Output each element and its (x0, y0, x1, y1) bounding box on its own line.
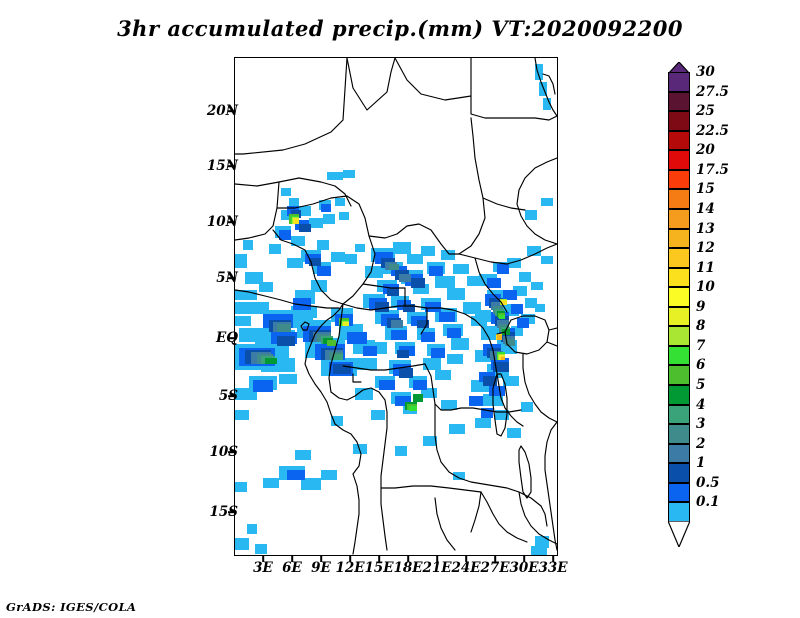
x-tick-label-18e: 18E (393, 560, 422, 576)
colorbar (668, 72, 690, 522)
x-tick-label-15e: 15E (364, 560, 393, 576)
colorbar-tick-label: 10 (696, 279, 715, 295)
colorbar-tick-label: 5 (696, 377, 705, 393)
x-tick-label-30e: 30E (509, 560, 538, 576)
colorbar-tick-label: 11 (696, 260, 715, 276)
colorbar-segment (668, 365, 690, 385)
y-tick-label-10n: 10N (207, 214, 238, 230)
y-tick-label-5s: 5S (219, 388, 238, 404)
colorbar-tick-label: 25 (696, 103, 715, 119)
colorbar-segment (668, 131, 690, 151)
colorbar-segment (668, 111, 690, 131)
colorbar-segment (668, 483, 690, 503)
colorbar-tick-label: 20 (696, 142, 715, 158)
colorbar-segment (668, 229, 690, 249)
colorbar-segment (668, 326, 690, 346)
colorbar-segment (668, 424, 690, 444)
footer-credit: GrADS: IGES/COLA (6, 600, 136, 614)
x-tick-label-33e: 33E (538, 560, 567, 576)
colorbar-tick-label: 13 (696, 221, 715, 237)
x-tick-label-12e: 12E (335, 560, 364, 576)
y-tick-label-10s: 10S (209, 444, 238, 460)
y-tick-label-eq: EQ (216, 330, 238, 346)
colorbar-segment (668, 92, 690, 112)
x-tick-label-6e: 6E (282, 560, 302, 576)
colorbar-tick-label: 7 (696, 338, 705, 354)
precip-map-plot (234, 57, 558, 556)
colorbar-segment (668, 287, 690, 307)
map-canvas (235, 58, 557, 555)
colorbar-segment (668, 463, 690, 483)
x-tick-label-24e: 24E (451, 560, 480, 576)
colorbar-tick-label: 27.5 (696, 84, 729, 100)
colorbar-tick-label: 17.5 (696, 162, 729, 178)
colorbar-tick-label: 3 (696, 416, 705, 432)
x-tick-label-9e: 9E (311, 560, 331, 576)
colorbar-tick-label: 15 (696, 181, 715, 197)
colorbar-segment (668, 170, 690, 190)
colorbar-tick-label: 14 (696, 201, 715, 217)
colorbar-segment (668, 502, 690, 522)
page-title: 3hr accumulated precip.(mm) VT:202009220… (0, 16, 800, 41)
colorbar-segment (668, 385, 690, 405)
colorbar-segment (668, 444, 690, 464)
colorbar-segment (668, 209, 690, 229)
x-tick-label-27e: 27E (480, 560, 509, 576)
colorbar-tick-label: 0.1 (696, 494, 720, 510)
colorbar-segment (668, 248, 690, 268)
y-tick-label-5n: 5N (216, 270, 238, 286)
y-tick-label-15s: 15S (209, 504, 238, 520)
colorbar-segment (668, 150, 690, 170)
colorbar-tick-label: 4 (696, 397, 705, 413)
colorbar-tick-label: 9 (696, 299, 705, 315)
colorbar-under-arrow (668, 521, 690, 547)
colorbar-segment (668, 268, 690, 288)
colorbar-segment (668, 346, 690, 366)
colorbar-tick-label: 12 (696, 240, 715, 256)
colorbar-tick-label: 22.5 (696, 123, 729, 139)
colorbar-segment (668, 307, 690, 327)
colorbar-tick-label: 0.5 (696, 475, 720, 491)
colorbar-tick-label: 30 (696, 64, 715, 80)
y-tick-label-15n: 15N (207, 158, 238, 174)
colorbar-segment (668, 405, 690, 425)
colorbar-tick-label: 6 (696, 357, 705, 373)
colorbar-tick-label: 2 (696, 436, 705, 452)
colorbar-tick-label: 1 (696, 455, 705, 471)
colorbar-segment (668, 189, 690, 209)
y-tick-label-20n: 20N (207, 103, 238, 119)
colorbar-tick-label: 8 (696, 318, 705, 334)
x-tick-label-3e: 3E (253, 560, 273, 576)
x-tick-label-21e: 21E (422, 560, 451, 576)
colorbar-segment (668, 72, 690, 92)
